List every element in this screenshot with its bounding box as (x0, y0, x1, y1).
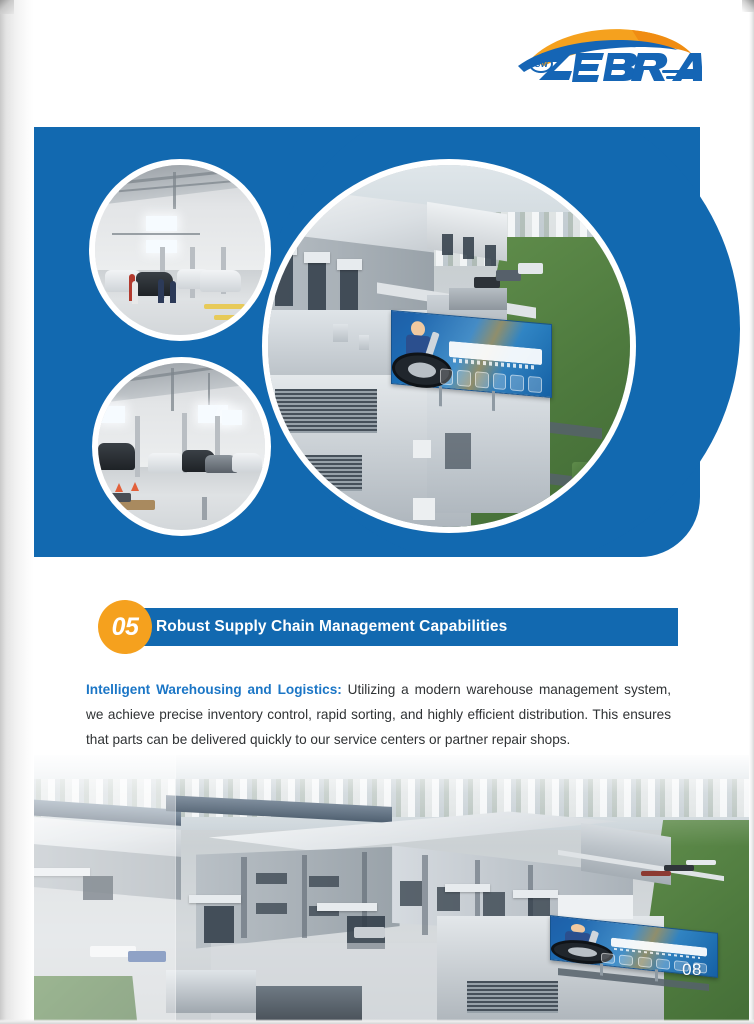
section-title: Robust Supply Chain Management Capabilit… (156, 618, 507, 636)
section-header-band: Robust Supply Chain Management Capabilit… (118, 608, 678, 646)
body-lead: Intelligent Warehousing and Logistics: (86, 682, 342, 697)
section-number-badge: 05 (98, 600, 152, 654)
section-number: 05 (112, 613, 139, 642)
billboard-zebra (391, 310, 552, 398)
logo-monogram: GW (534, 60, 548, 69)
photo-circle-workshop-bays (98, 363, 265, 530)
page-number: 08 (682, 960, 702, 980)
photo-circle-aerial-facility (268, 165, 630, 527)
photo-bottom-aerial-complex (0, 755, 754, 1024)
page-corner-top-right (742, 0, 754, 12)
body-paragraph: Intelligent Warehousing and Logistics: U… (86, 677, 671, 752)
page-corner-top-left (0, 0, 14, 14)
photo-circle-workshop-lifts (95, 165, 265, 335)
page-canvas: GW (0, 0, 754, 1024)
zebra-logo: GW (512, 26, 702, 88)
